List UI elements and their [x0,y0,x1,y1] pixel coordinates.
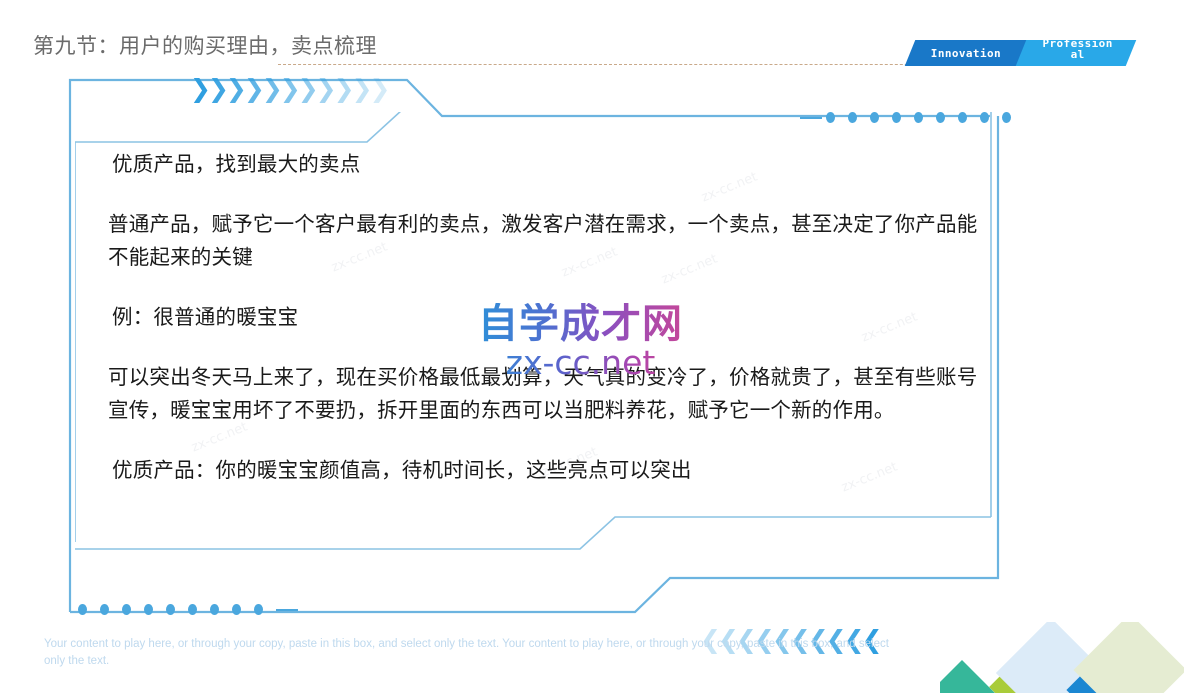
dot [980,112,989,123]
dot [122,604,131,615]
diamond-blue [1066,650,1145,693]
diamond-yellowgreen [989,643,1077,693]
dot [166,604,175,615]
page-title: 第九节：用户的购买理由，卖点梳理 [33,30,377,60]
slide-body: 优质产品，找到最大的卖点 普通产品，赋予它一个客户最有利的卖点，激发客户潜在需求… [108,148,978,487]
dot [1002,112,1011,123]
body-paragraph: 普通产品，赋予它一个客户最有利的卖点，激发客户潜在需求，一个卖点，甚至决定了你产… [108,208,978,274]
title-divider [278,64,958,65]
diamond-decoration-cluster [940,622,1184,693]
dot [254,604,263,615]
footer-placeholder-text: Your content to play here, or through yo… [44,636,889,670]
dot [100,604,109,615]
dot [144,604,153,615]
diamond-lightblue [996,622,1106,693]
body-paragraph: 例：很普通的暖宝宝 [108,301,978,334]
chevron-strip-right: ❯ ❯ ❯ ❯ ❯ ❯ ❯ ❯ ❯ ❯ ❯ [190,76,387,101]
ribbon-professional-label: Profession al [1042,38,1114,60]
dot [958,112,967,123]
dot [232,604,241,615]
dot [914,112,923,123]
dot [892,112,901,123]
dot [210,604,219,615]
ribbon-innovation-label: Innovation [931,48,1001,59]
dot [188,604,197,615]
dot [870,112,879,123]
diamond-teal [940,660,996,693]
ribbon-segment-professional: Profession al [1016,40,1137,66]
body-paragraph: 优质产品，找到最大的卖点 [108,148,978,181]
diamond-palegreen [1073,622,1184,693]
dot-connector-line [800,117,822,119]
dot-row-top [800,112,1011,123]
ribbon-segment-innovation: Innovation [905,40,1028,66]
dot [826,112,835,123]
dot [78,604,87,615]
body-paragraph: 优质产品：你的暖宝宝颜值高，待机时间长，这些亮点可以突出 [108,454,978,487]
ribbon-banner: Innovation Profession al [910,40,1131,66]
dot [936,112,945,123]
body-paragraph: 可以突出冬天马上来了，现在买价格最低最划算，天气真的变冷了，价格就贵了，甚至有些… [108,361,978,427]
chevron-right-icon: ❯ [370,76,391,101]
dot-connector-line [276,609,298,611]
dot [848,112,857,123]
dot-row-bottom [78,604,298,615]
